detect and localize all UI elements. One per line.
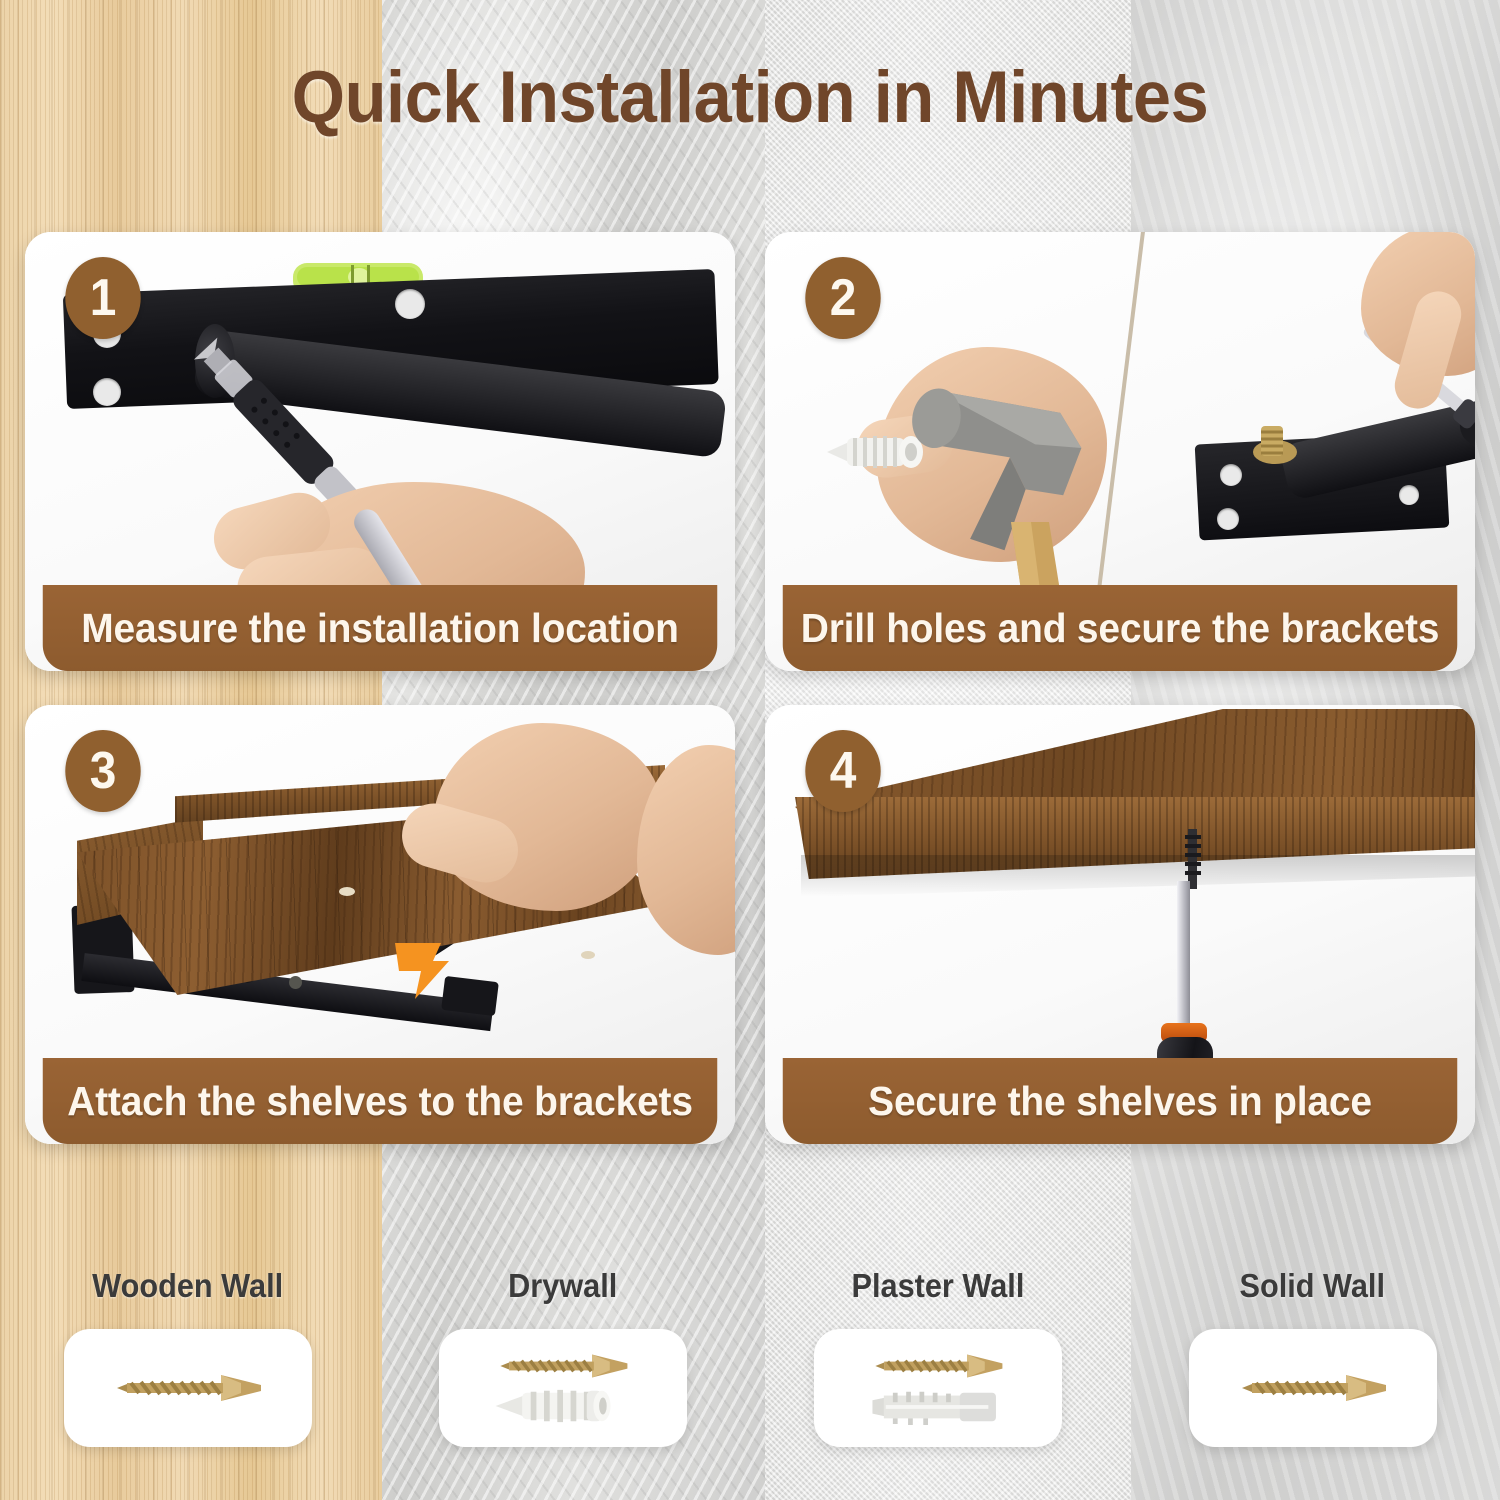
step-caption-3: Attach the shelves to the brackets [43,1058,718,1144]
bracket-mount-hole [1220,464,1242,486]
step-badge-3: 3 [65,730,140,812]
step-caption-2: Drill holes and secure the brackets [783,585,1458,671]
self-drilling-anchor-icon [488,1387,638,1425]
hardware-chip[interactable] [64,1329,312,1447]
infographic-stage: Quick Installation in Minutes [0,0,1500,1500]
bracket-rail-screw [289,976,302,989]
shelf-pilot-hole [339,887,355,896]
page-title: Quick Installation in Minutes [45,56,1455,139]
wall-type-solid-wall[interactable]: Solid Wall [1125,1255,1500,1500]
screw-icon [863,1351,1013,1381]
step-caption-4: Secure the shelves in place [783,1058,1458,1144]
direction-arrow-icon [389,937,461,1007]
step-caption-1: Measure the installation location [43,585,718,671]
expansion-anchor-icon [863,1387,1013,1425]
step-badge-1: 1 [65,257,140,339]
hardware-chip[interactable] [814,1329,1062,1447]
step-card-grid: 1 Measure the installation location [25,232,1475,1144]
screw-icon [488,1351,638,1381]
step-badge-4: 4 [805,730,880,812]
screwdriver-shaft [1177,881,1190,1031]
wall-type-plaster-wall[interactable]: Plaster Wall [750,1255,1125,1500]
shelf-pilot-hole [581,951,595,959]
step-badge-2: 2 [805,257,880,339]
step-card-2[interactable]: 2 Drill holes and secure the brackets [765,232,1475,671]
wall-type-label: Drywall [508,1267,617,1305]
step-card-4[interactable]: 4 Secure the shelves in place [765,705,1475,1144]
bracket-mount-hole [1217,508,1239,530]
hardware-chip[interactable] [439,1329,687,1447]
wall-type-drywall[interactable]: Drywall [375,1255,750,1500]
wall-type-hardware-row: Wooden Wall Drywall [0,1255,1500,1500]
wall-type-label: Wooden Wall [92,1267,283,1305]
wall-type-label: Solid Wall [1240,1267,1386,1305]
screw-icon [1238,1371,1388,1405]
wall-type-wooden-wall[interactable]: Wooden Wall [0,1255,375,1500]
step-card-1[interactable]: 1 Measure the installation location [25,232,735,671]
wall-type-label: Plaster Wall [851,1267,1024,1305]
step-card-3[interactable]: 3 Attach the shelves to the brackets [25,705,735,1144]
hardware-chip[interactable] [1189,1329,1437,1447]
screw-icon [113,1371,263,1405]
bracket-mount-hole [395,289,425,319]
